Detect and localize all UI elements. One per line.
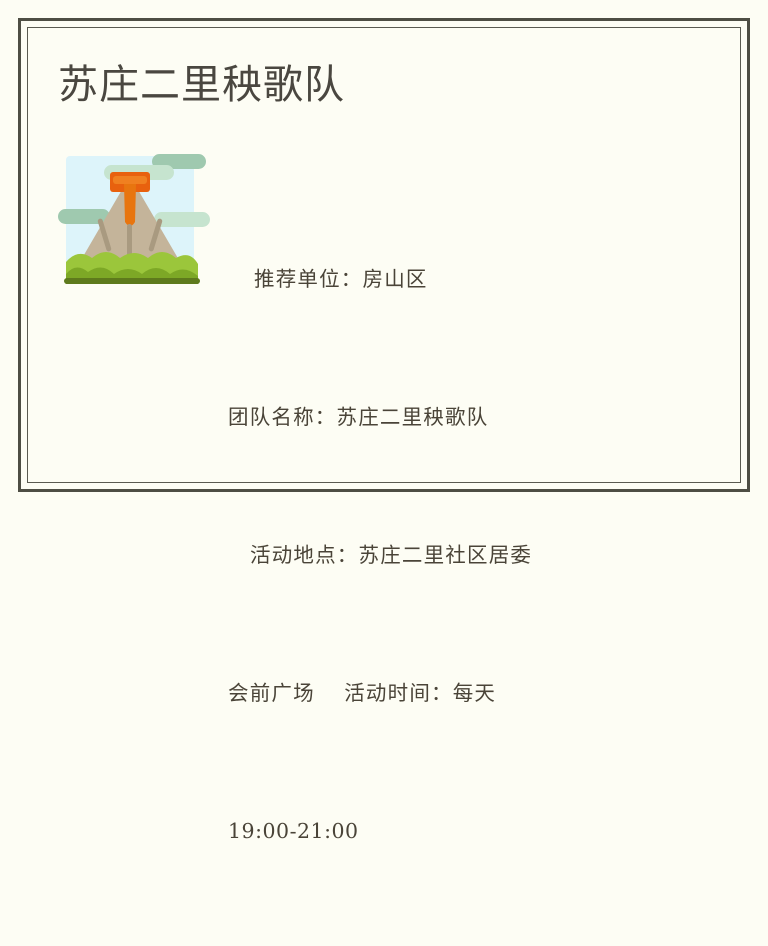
crater-inner [113,176,147,184]
lava-flow [124,184,136,226]
volcano-illustration [58,150,210,298]
info-line-time-value: 19:00-21:00 [228,808,648,854]
poster-card: 苏庄二里秧歌队 [0,0,768,510]
cloud-right-light [154,212,210,227]
ground-line [64,278,200,284]
info-line-location-cont-and-time: 会前广场 活动时间：每天 [228,670,648,716]
activity-info-block: 推荐单位：房山区 团队名称：苏庄二里秧歌队 活动地点：苏庄二里社区居委 会前广场… [228,164,648,946]
info-line-team-name: 团队名称：苏庄二里秧歌队 [228,394,648,440]
page-title: 苏庄二里秧歌队 [58,58,345,112]
info-line-recommend-unit: 推荐单位：房山区 [228,256,648,302]
volcano-icon [58,150,210,298]
info-line-location: 活动地点：苏庄二里社区居委 [228,532,648,578]
